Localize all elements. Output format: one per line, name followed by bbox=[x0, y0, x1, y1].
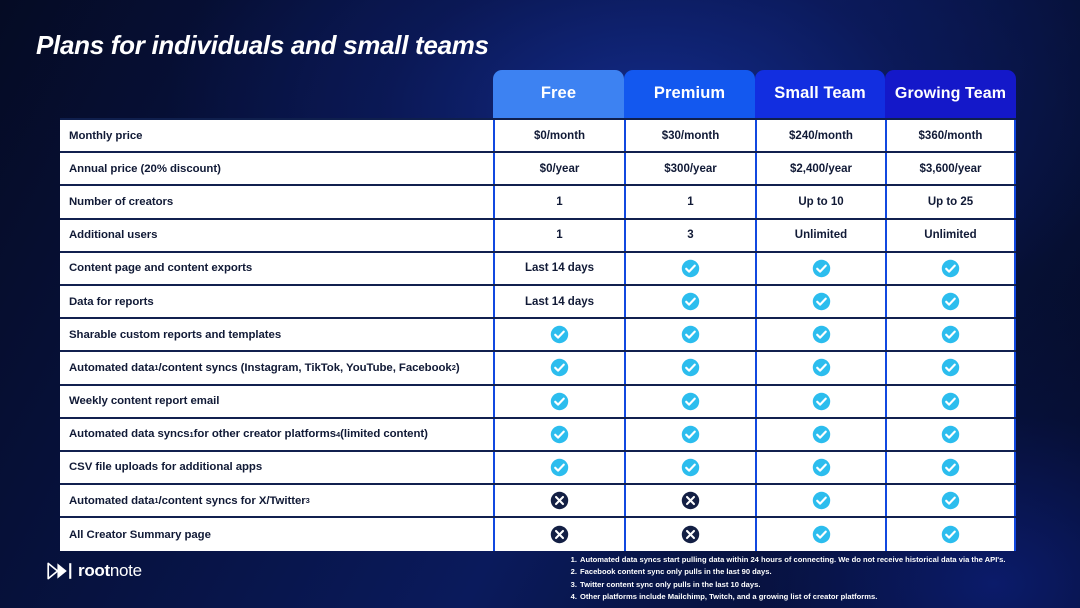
cell-premium: $30/month bbox=[624, 120, 755, 151]
cell-free: Last 14 days bbox=[493, 286, 624, 317]
cell-growing-team: $360/month bbox=[885, 120, 1016, 151]
cell-free: Last 14 days bbox=[493, 253, 624, 284]
check-icon bbox=[550, 425, 569, 444]
check-icon bbox=[681, 325, 700, 344]
logo-light: note bbox=[110, 561, 142, 580]
cell-free: 1 bbox=[493, 186, 624, 217]
header-spacer bbox=[60, 70, 493, 118]
footnote-number: 2. bbox=[568, 566, 577, 578]
row-label: All Creator Summary page bbox=[60, 518, 493, 551]
cell-free bbox=[493, 485, 624, 516]
row-label: CSV file uploads for additional apps bbox=[60, 452, 493, 483]
cell-free bbox=[493, 319, 624, 350]
table-row: Annual price (20% discount)$0/year$300/y… bbox=[60, 153, 1016, 186]
cell-small-team bbox=[755, 419, 885, 450]
cell-growing-team bbox=[885, 386, 1016, 417]
check-icon bbox=[681, 425, 700, 444]
check-icon bbox=[941, 292, 960, 311]
check-icon bbox=[941, 358, 960, 377]
row-label: Additional users bbox=[60, 220, 493, 251]
row-label: Content page and content exports bbox=[60, 253, 493, 284]
cell-small-team bbox=[755, 452, 885, 483]
cell-free: $0/year bbox=[493, 153, 624, 184]
row-label: Annual price (20% discount) bbox=[60, 153, 493, 184]
plan-header-small-team[interactable]: Small Team bbox=[755, 70, 885, 118]
check-icon bbox=[812, 491, 831, 510]
cell-premium bbox=[624, 386, 755, 417]
table-row: Automated data1/content syncs for X/Twit… bbox=[60, 485, 1016, 518]
table-row: Monthly price$0/month$30/month$240/month… bbox=[60, 120, 1016, 153]
check-icon bbox=[941, 458, 960, 477]
rootnote-logo: rootnote bbox=[47, 561, 142, 581]
cell-free bbox=[493, 352, 624, 383]
check-icon bbox=[812, 325, 831, 344]
cell-free bbox=[493, 452, 624, 483]
cell-small-team bbox=[755, 485, 885, 516]
table-header-row: Free Premium Small Team Growing Team bbox=[60, 70, 1016, 118]
check-icon bbox=[812, 292, 831, 311]
row-label: Number of creators bbox=[60, 186, 493, 217]
check-icon bbox=[681, 259, 700, 278]
cross-icon bbox=[550, 525, 569, 544]
cell-free: $0/month bbox=[493, 120, 624, 151]
logo-bold: root bbox=[78, 561, 110, 580]
check-icon bbox=[550, 325, 569, 344]
footnote-text: Automated data syncs start pulling data … bbox=[580, 554, 1005, 566]
cell-premium bbox=[624, 286, 755, 317]
cell-small-team bbox=[755, 319, 885, 350]
table-row: Number of creators11Up to 10Up to 25 bbox=[60, 186, 1016, 219]
pricing-slide: Plans for individuals and small teams Fr… bbox=[0, 0, 1080, 608]
cell-free bbox=[493, 518, 624, 551]
plan-header-premium[interactable]: Premium bbox=[624, 70, 755, 118]
footnote-item: 2.Facebook content sync only pulls in th… bbox=[568, 566, 1038, 578]
cell-premium: 1 bbox=[624, 186, 755, 217]
check-icon bbox=[941, 425, 960, 444]
cell-free bbox=[493, 386, 624, 417]
row-label: Automated data1/content syncs for X/Twit… bbox=[60, 485, 493, 516]
table-row: Content page and content exportsLast 14 … bbox=[60, 253, 1016, 286]
footnote-number: 4. bbox=[568, 591, 577, 603]
check-icon bbox=[681, 392, 700, 411]
cell-premium: $300/year bbox=[624, 153, 755, 184]
row-label: Weekly content report email bbox=[60, 386, 493, 417]
cell-free: 1 bbox=[493, 220, 624, 251]
rootnote-play-icon bbox=[47, 562, 73, 580]
cell-small-team bbox=[755, 352, 885, 383]
table-row: Automated data1/content syncs (Instagram… bbox=[60, 352, 1016, 385]
cell-premium bbox=[624, 253, 755, 284]
cell-growing-team bbox=[885, 452, 1016, 483]
check-icon bbox=[941, 525, 960, 544]
table-row: Automated data syncs1 for other creator … bbox=[60, 419, 1016, 452]
cell-small-team: Unlimited bbox=[755, 220, 885, 251]
page-title: Plans for individuals and small teams bbox=[36, 30, 489, 61]
cell-growing-team bbox=[885, 485, 1016, 516]
cell-growing-team bbox=[885, 419, 1016, 450]
cell-growing-team bbox=[885, 352, 1016, 383]
cell-premium: 3 bbox=[624, 220, 755, 251]
check-icon bbox=[812, 358, 831, 377]
row-label: Automated data syncs1 for other creator … bbox=[60, 419, 493, 450]
table-row: Sharable custom reports and templates bbox=[60, 319, 1016, 352]
row-label: Monthly price bbox=[60, 120, 493, 151]
plan-header-free[interactable]: Free bbox=[493, 70, 624, 118]
cell-premium bbox=[624, 518, 755, 551]
rootnote-wordmark: rootnote bbox=[78, 561, 142, 581]
check-icon bbox=[550, 358, 569, 377]
cell-growing-team: Up to 25 bbox=[885, 186, 1016, 217]
cross-icon bbox=[550, 491, 569, 510]
cell-growing-team bbox=[885, 253, 1016, 284]
cell-premium bbox=[624, 485, 755, 516]
cell-growing-team: $3,600/year bbox=[885, 153, 1016, 184]
cell-premium bbox=[624, 319, 755, 350]
footnote-item: 3.Twitter content sync only pulls in the… bbox=[568, 579, 1038, 591]
cell-small-team bbox=[755, 286, 885, 317]
check-icon bbox=[941, 325, 960, 344]
cell-growing-team bbox=[885, 518, 1016, 551]
footnote-text: Facebook content sync only pulls in the … bbox=[580, 566, 772, 578]
table-row: Additional users13UnlimitedUnlimited bbox=[60, 220, 1016, 253]
check-icon bbox=[941, 491, 960, 510]
check-icon bbox=[812, 525, 831, 544]
cell-premium bbox=[624, 419, 755, 450]
footnote-item: 1.Automated data syncs start pulling dat… bbox=[568, 554, 1038, 566]
check-icon bbox=[550, 458, 569, 477]
row-label: Data for reports bbox=[60, 286, 493, 317]
row-label: Sharable custom reports and templates bbox=[60, 319, 493, 350]
table-row: Weekly content report email bbox=[60, 386, 1016, 419]
cell-growing-team: Unlimited bbox=[885, 220, 1016, 251]
cell-small-team bbox=[755, 253, 885, 284]
plan-header-growing-team[interactable]: Growing Team bbox=[885, 70, 1016, 118]
check-icon bbox=[812, 259, 831, 278]
check-icon bbox=[812, 392, 831, 411]
cell-growing-team bbox=[885, 286, 1016, 317]
footnote-number: 3. bbox=[568, 579, 577, 591]
footnotes: 1.Automated data syncs start pulling dat… bbox=[568, 554, 1038, 603]
check-icon bbox=[941, 392, 960, 411]
cell-free bbox=[493, 419, 624, 450]
table-row: All Creator Summary page bbox=[60, 518, 1016, 551]
check-icon bbox=[681, 358, 700, 377]
table-body: Monthly price$0/month$30/month$240/month… bbox=[60, 118, 1016, 551]
cell-small-team bbox=[755, 386, 885, 417]
check-icon bbox=[812, 425, 831, 444]
cross-icon bbox=[681, 525, 700, 544]
pricing-table: Free Premium Small Team Growing Team Mon… bbox=[60, 70, 1016, 551]
cell-growing-team bbox=[885, 319, 1016, 350]
footnote-item: 4.Other platforms include Mailchimp, Twi… bbox=[568, 591, 1038, 603]
footnote-text: Other platforms include Mailchimp, Twitc… bbox=[580, 591, 877, 603]
cell-small-team: Up to 10 bbox=[755, 186, 885, 217]
cell-premium bbox=[624, 352, 755, 383]
check-icon bbox=[941, 259, 960, 278]
cell-premium bbox=[624, 452, 755, 483]
table-row: Data for reportsLast 14 days bbox=[60, 286, 1016, 319]
check-icon bbox=[681, 292, 700, 311]
table-row: CSV file uploads for additional apps bbox=[60, 452, 1016, 485]
check-icon bbox=[812, 458, 831, 477]
footnote-text: Twitter content sync only pulls in the l… bbox=[580, 579, 760, 591]
footnote-number: 1. bbox=[568, 554, 577, 566]
cross-icon bbox=[681, 491, 700, 510]
cell-small-team: $240/month bbox=[755, 120, 885, 151]
cell-small-team bbox=[755, 518, 885, 551]
cell-small-team: $2,400/year bbox=[755, 153, 885, 184]
check-icon bbox=[550, 392, 569, 411]
row-label: Automated data1/content syncs (Instagram… bbox=[60, 352, 493, 383]
check-icon bbox=[681, 458, 700, 477]
